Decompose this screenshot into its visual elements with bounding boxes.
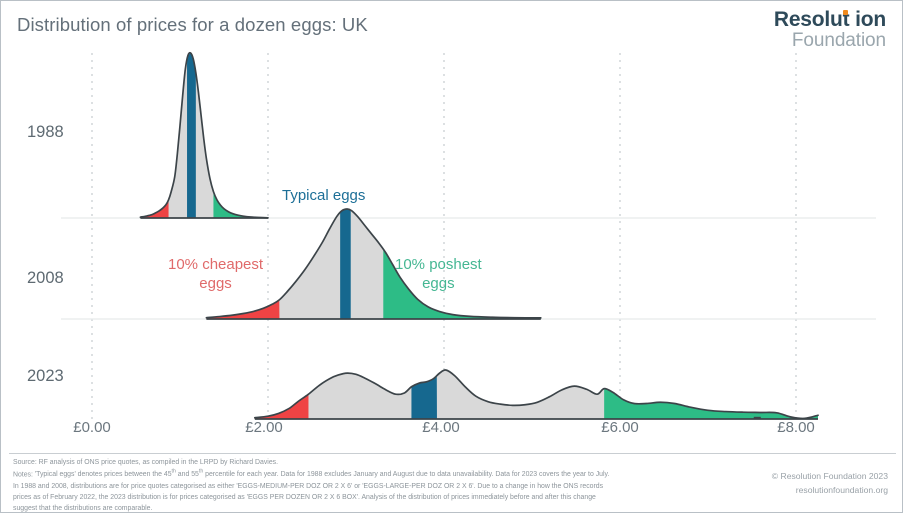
y-label-2008: 2008 <box>27 269 64 288</box>
ridge-2023 <box>255 370 818 419</box>
notes-label: Notes: <box>13 471 33 478</box>
ridge-1988 <box>140 53 268 218</box>
x-tick-0: £0.00 <box>73 419 111 436</box>
annotation-cheapest-line2: eggs <box>168 275 263 294</box>
notes-body: 'Typical eggs' denotes prices between th… <box>13 471 609 512</box>
footnotes: Source: RF analysis of ONS price quotes,… <box>13 457 613 514</box>
page-title: Distribution of prices for a dozen eggs:… <box>17 14 368 36</box>
y-label-2023: 2023 <box>27 367 64 386</box>
x-tick-2: £4.00 <box>422 419 460 436</box>
ridge-typical-1988 <box>187 53 196 218</box>
ridge-cheapest-1988 <box>140 200 168 218</box>
ridge-poshest-1988 <box>213 192 268 218</box>
x-tick-1: £2.00 <box>245 419 283 436</box>
footer-divider <box>9 453 896 454</box>
annotation-typical-eggs: Typical eggs <box>282 187 365 206</box>
x-axis: £0.00 £2.00 £4.00 £6.00 £8.00 <box>1 419 903 445</box>
annotation-poshest-line1: 10% poshest <box>395 256 482 275</box>
x-tick-4: £8.00 <box>777 419 815 436</box>
logo-brand-text: Resolut <box>774 8 850 31</box>
ridgeline-plot: 1988 2008 2023 Typical eggs 10% cheapest… <box>1 45 903 420</box>
ridgeline-svg <box>1 45 903 420</box>
logo-accent-dot <box>843 10 848 15</box>
logo-brand-text-rest: ion <box>855 8 886 31</box>
annotation-poshest-line2: eggs <box>395 275 482 294</box>
annotation-cheapest-line1: 10% cheapest <box>168 256 263 275</box>
logo-line-1: Resolut ion <box>774 9 886 31</box>
source-note: Source: RF analysis of ONS price quotes,… <box>13 457 613 468</box>
chart-footer: Source: RF analysis of ONS price quotes,… <box>1 453 903 514</box>
annotation-cheapest-eggs: 10% cheapest eggs <box>168 256 263 294</box>
ridge-typical-2008 <box>340 209 351 319</box>
copyright-text: © Resolution Foundation 2023 <box>772 469 888 483</box>
chart-frame: Distribution of prices for a dozen eggs:… <box>0 0 903 513</box>
y-label-1988: 1988 <box>27 123 64 142</box>
annotation-poshest-eggs: 10% poshest eggs <box>395 256 482 294</box>
notes-note: Notes: 'Typical eggs' denotes prices bet… <box>13 468 613 514</box>
website-text: resolutionfoundation.org <box>772 483 888 497</box>
credits: © Resolution Foundation 2023 resolutionf… <box>772 469 888 497</box>
x-tick-3: £6.00 <box>601 419 639 436</box>
ridge-cheapest-2023 <box>255 394 309 419</box>
